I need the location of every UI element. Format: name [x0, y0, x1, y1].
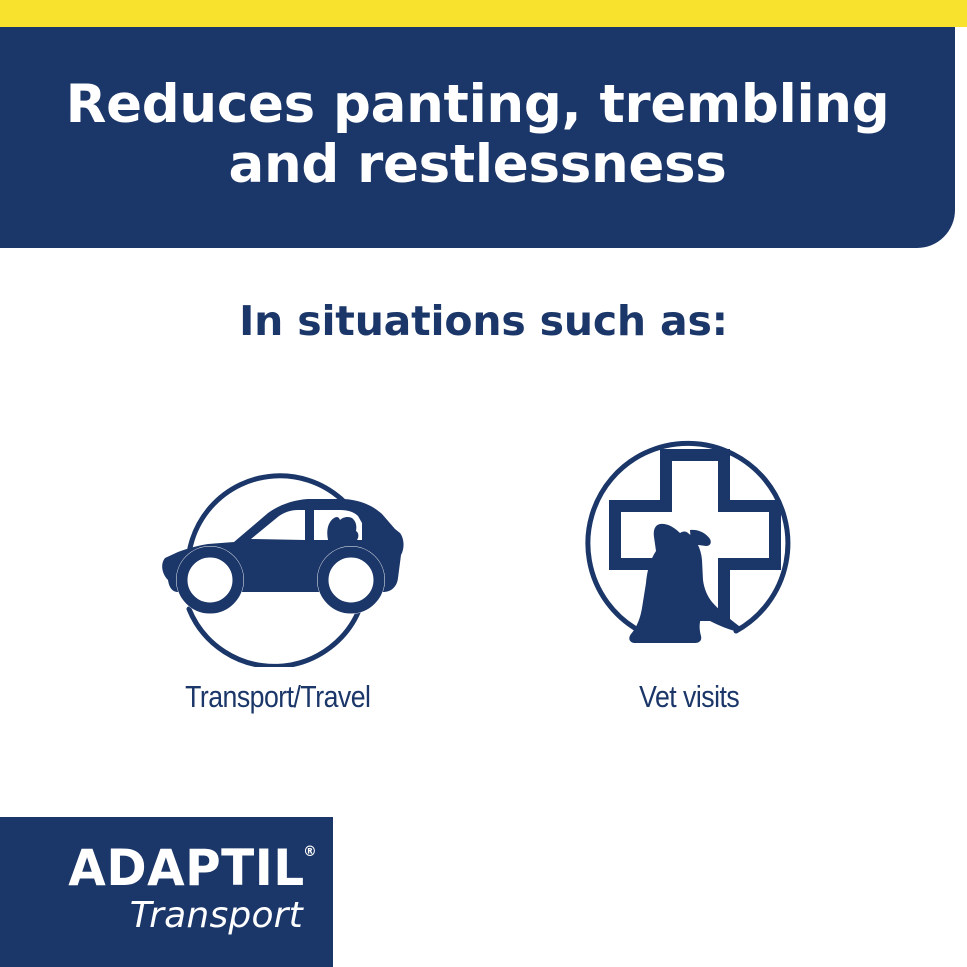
veterinary-cross-with-dog-icon [560, 412, 820, 667]
header-panel: Reduces panting, trembling and restlessn… [0, 27, 955, 248]
headline: Reduces panting, trembling and restlessn… [38, 75, 918, 200]
subheading: In situations such as: [0, 299, 967, 344]
yellow-accent-bar [0, 0, 967, 27]
product-infographic: Reduces panting, trembling and restlessn… [0, 0, 967, 967]
brand-logo: ADAPTIL ® Transport [0, 817, 333, 967]
situations-list: Transport/Travel Vet visits [0, 412, 967, 715]
logo-product-name: Transport [130, 897, 303, 935]
situation-item-transport: Transport/Travel [148, 412, 408, 715]
registered-trademark-icon: ® [304, 845, 318, 859]
situation-caption-vet: Vet visits [639, 679, 739, 715]
situation-item-vet: Vet visits [560, 412, 820, 715]
logo-brand-text: ADAPTIL [69, 839, 305, 897]
logo-brand-name: ADAPTIL ® [69, 843, 305, 893]
situation-caption-transport: Transport/Travel [185, 679, 370, 715]
car-with-dog-icon [148, 412, 408, 667]
